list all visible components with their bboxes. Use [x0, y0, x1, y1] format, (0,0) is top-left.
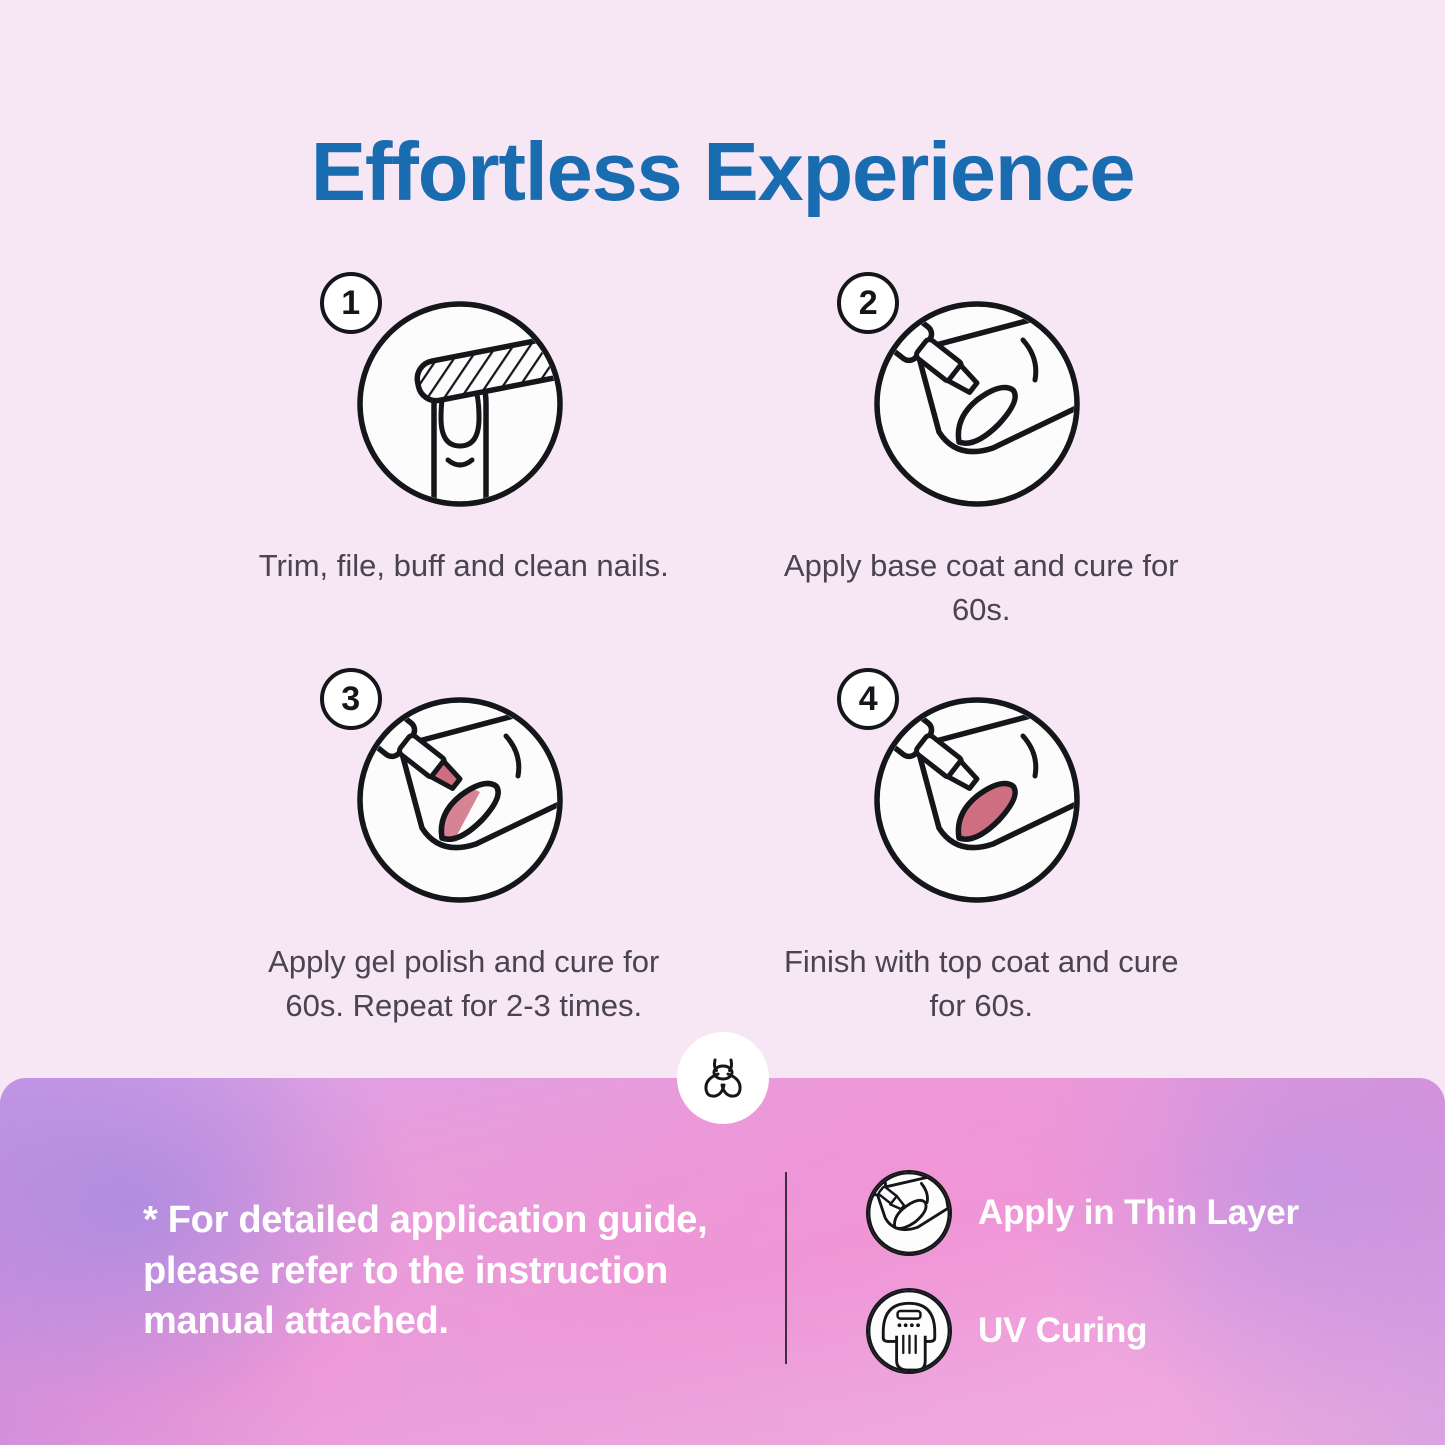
- infographic-page: Effortless Experience 1: [0, 0, 1445, 1445]
- step-caption-2: Apply base coat and cure for 60s.: [766, 544, 1196, 632]
- step-illustration-4: 4: [831, 668, 1131, 918]
- step-illustration-2: 2: [831, 272, 1131, 522]
- nail-file-icon: [356, 300, 564, 508]
- base-coat-brush-icon: [873, 300, 1081, 508]
- step-illustration-3: 3: [314, 668, 614, 918]
- gel-polish-brush-icon: [356, 696, 564, 904]
- step-number-badge-1: 1: [320, 272, 382, 334]
- top-coat-brush-icon: [873, 696, 1081, 904]
- step-number-badge-2: 2: [837, 272, 899, 334]
- banner-features: Apply in Thin Layer: [866, 1170, 1299, 1374]
- page-title: Effortless Experience: [0, 128, 1445, 215]
- brand-logo-badge: [677, 1032, 769, 1124]
- step-card-3: 3: [205, 668, 723, 1028]
- step-card-4: 4: [723, 668, 1241, 1028]
- butterfly-logo-icon: [697, 1052, 749, 1104]
- step-caption-4: Finish with top coat and cure for 60s.: [766, 940, 1196, 1028]
- uv-lamp-icon: [866, 1288, 952, 1374]
- feature-label-uv-curing: UV Curing: [978, 1311, 1147, 1351]
- banner-note: * For detailed application guide, please…: [143, 1195, 743, 1347]
- step-illustration-1: 1: [314, 272, 614, 522]
- step-card-1: 1: [205, 272, 723, 632]
- feature-label-thin-layer: Apply in Thin Layer: [978, 1193, 1299, 1233]
- step-card-2: 2: [723, 272, 1241, 632]
- step-number-badge-4: 4: [837, 668, 899, 730]
- step-caption-1: Trim, file, buff and clean nails.: [259, 544, 669, 588]
- banner-divider: [785, 1172, 787, 1364]
- feature-thin-layer: Apply in Thin Layer: [866, 1170, 1299, 1256]
- step-caption-3: Apply gel polish and cure for 60s. Repea…: [249, 940, 679, 1028]
- thin-layer-brush-icon: [866, 1170, 952, 1256]
- steps-grid: 1: [205, 272, 1240, 1028]
- feature-uv-curing: UV Curing: [866, 1288, 1299, 1374]
- step-number-badge-3: 3: [320, 668, 382, 730]
